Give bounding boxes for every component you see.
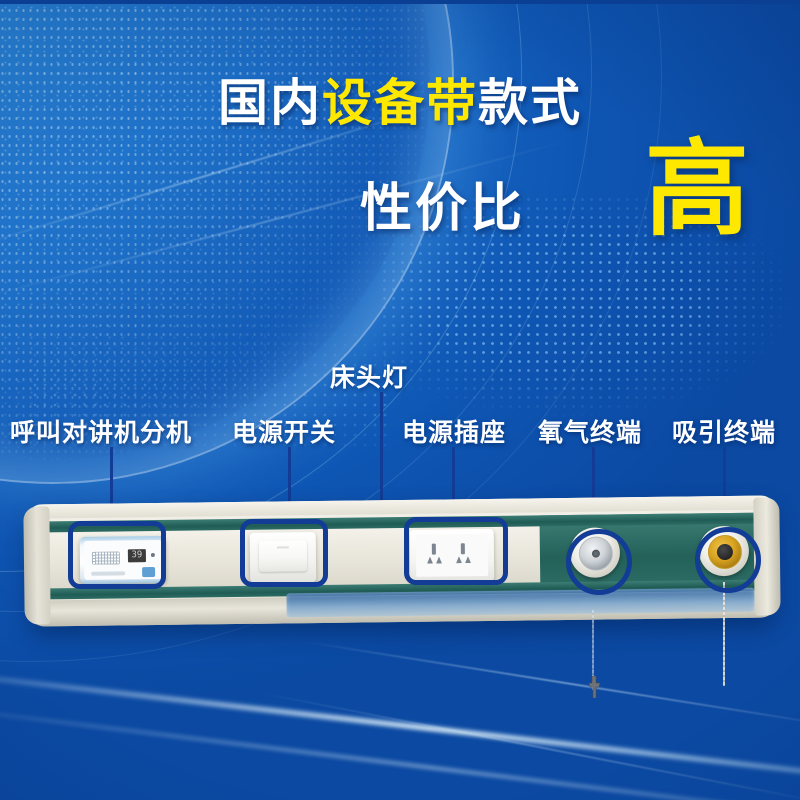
highlight-ring-suction-terminal [695, 527, 761, 593]
callout-label-nurse-call-intercom: 呼叫对讲机分机 [10, 413, 192, 449]
callout-label-bed-lamp: 床头灯 [330, 358, 408, 394]
top-edge-bar [0, 0, 800, 4]
callout-label-suction-terminal: 吸引终端 [672, 413, 776, 449]
highlight-ring-oxygen-terminal [566, 529, 632, 595]
panel-left-end-cap [23, 506, 50, 624]
promo-banner: 国内设备带款式 性价比 高 呼叫对讲机分机 电源开关 床头灯 电源插座 氧气终端… [0, 0, 800, 800]
highlight-box-intercom [68, 521, 166, 589]
headline-line-2-white: 性价比 [360, 166, 525, 241]
highlight-box-power-socket [404, 517, 508, 585]
headline-accent-character: 高 [645, 138, 749, 242]
callout-label-power-switch: 电源开关 [232, 413, 336, 449]
pull-cord[interactable] [723, 582, 725, 686]
callout-label-power-socket: 电源插座 [402, 413, 506, 449]
highlight-box-power-switch [240, 519, 328, 587]
headline-segment-2-highlight: 设备带 [322, 75, 478, 131]
headline-segment-1: 国内 [218, 75, 322, 131]
headline-segment-3: 款式 [478, 75, 582, 131]
callout-label-oxygen-terminal: 氧气终端 [538, 413, 642, 449]
headline-line-1: 国内设备带款式 [0, 78, 800, 128]
pull-cord-handle-icon [585, 676, 603, 698]
headline-block: 国内设备带款式 [0, 78, 800, 128]
